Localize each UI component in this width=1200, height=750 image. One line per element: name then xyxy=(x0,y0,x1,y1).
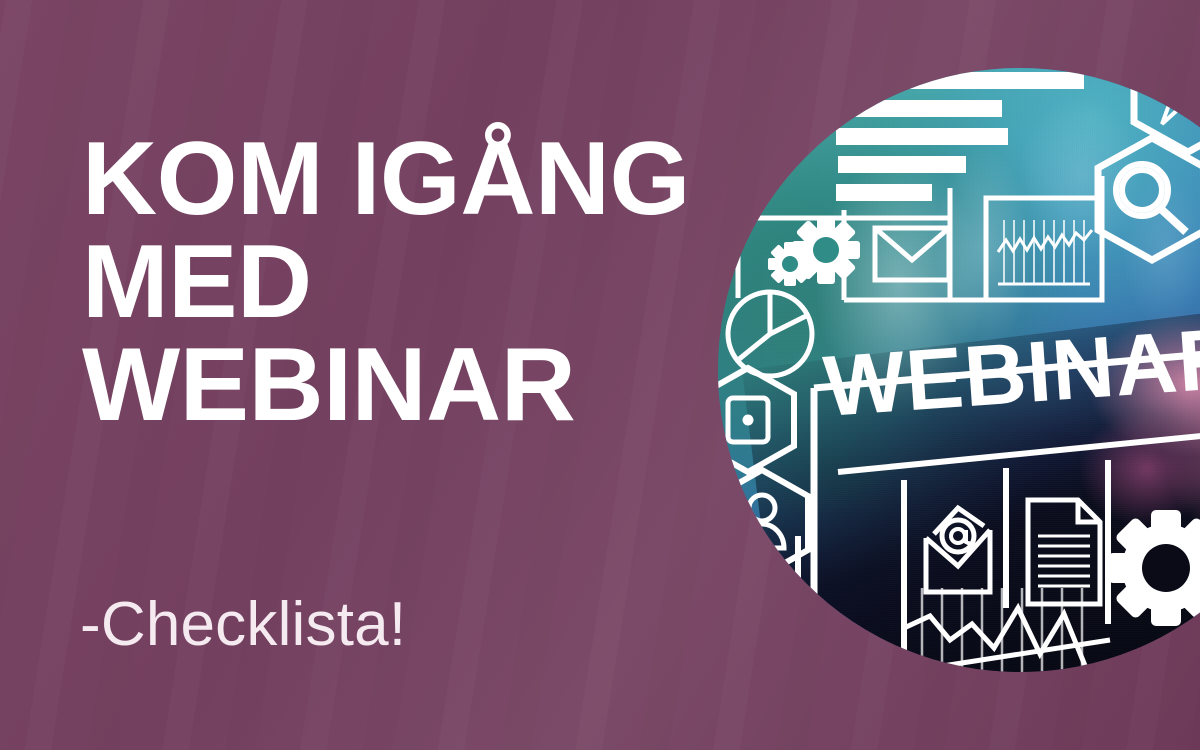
document-icon xyxy=(1028,500,1100,604)
speech-bubble-icon xyxy=(1150,68,1200,124)
envelope-icon xyxy=(875,228,949,280)
bar-chart-icon xyxy=(836,68,1084,201)
page-title: KOM IGÅNG MED WEBINAR xyxy=(82,128,722,437)
circular-photo-collage: WEBINAR xyxy=(718,68,1200,672)
line-chart-icon xyxy=(998,220,1092,284)
screen-text: WEBINAR xyxy=(821,310,1200,435)
email-at-icon xyxy=(926,508,990,592)
magnifier-icon xyxy=(1116,164,1186,232)
gears-icon xyxy=(1108,510,1200,672)
icon-overlay: WEBINAR xyxy=(718,68,1200,672)
pie-chart-icon xyxy=(728,292,812,376)
magnifier-hexagon-icon xyxy=(1098,138,1200,260)
subtitle: -Checklista! xyxy=(80,594,406,656)
user-icon xyxy=(740,495,784,548)
promo-banner: KOM IGÅNG MED WEBINAR -Checklista! xyxy=(0,0,1200,750)
tablet-icon xyxy=(728,398,768,442)
